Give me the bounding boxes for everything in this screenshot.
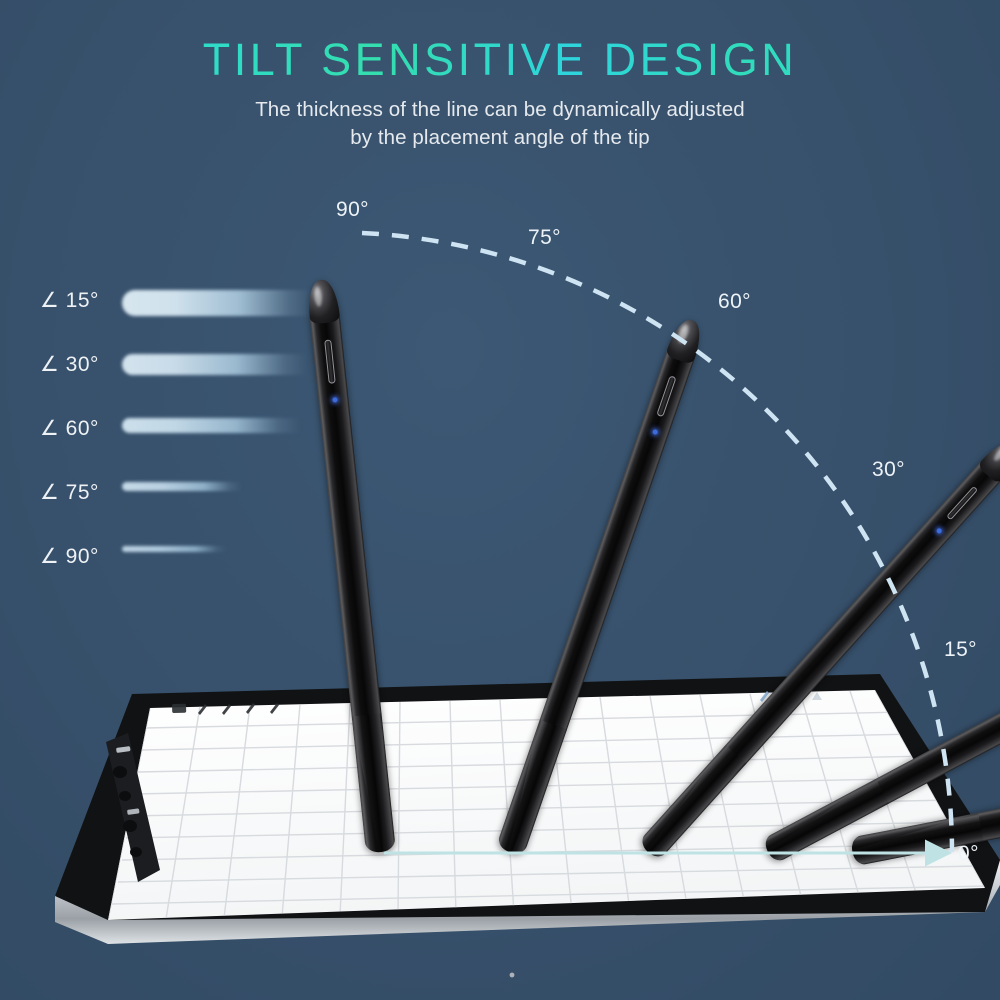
marketing-banner: TILT SENSITIVE DESIGN The thickness of t… [0,0,1000,1000]
stylus-cap [665,316,706,365]
arc-label-30: 30° [872,458,905,482]
stroke-sample-label: ∠ 75° [40,480,99,505]
stroke-sample-mark [122,546,227,552]
stroke-sample-list: ∠ 15° ∠ 30° ∠ 60° ∠ 75° ∠ 90° [40,280,340,600]
stroke-sample-row-60: ∠ 60° [40,408,340,472]
stroke-sample-mark [122,482,242,491]
arc-label-15: 15° [944,638,977,662]
stylus-led-indicator [652,429,658,435]
stroke-sample-row-15: ∠ 15° [40,280,340,344]
stylus-tip [496,720,567,857]
stroke-sample-label: ∠ 90° [40,544,99,569]
stylus-pen-75[interactable] [496,316,706,857]
stroke-sample-row-30: ∠ 30° [40,344,340,408]
stylus-led-indicator [935,527,942,534]
arc-label-75: 75° [528,226,561,250]
stylus-power-button[interactable] [946,485,978,520]
stylus-tip [352,713,396,853]
stroke-sample-label: ∠ 60° [40,416,99,441]
stylus-tip [638,745,747,861]
stylus-power-button[interactable] [657,375,677,417]
arc-label-90: 90° [336,198,369,222]
arc-label-0: 0° [958,842,979,866]
stylus-body [496,316,706,857]
stroke-sample-mark [122,354,307,375]
arc-label-60: 60° [718,290,751,314]
stroke-sample-row-75: ∠ 75° [40,472,340,536]
stroke-sample-label: ∠ 15° [40,288,99,313]
stylus-cap [977,435,1000,484]
stroke-sample-mark [122,290,312,316]
stroke-sample-mark [122,418,300,433]
stroke-sample-label: ∠ 30° [40,352,99,377]
stroke-sample-row-90: ∠ 90° [40,536,340,600]
